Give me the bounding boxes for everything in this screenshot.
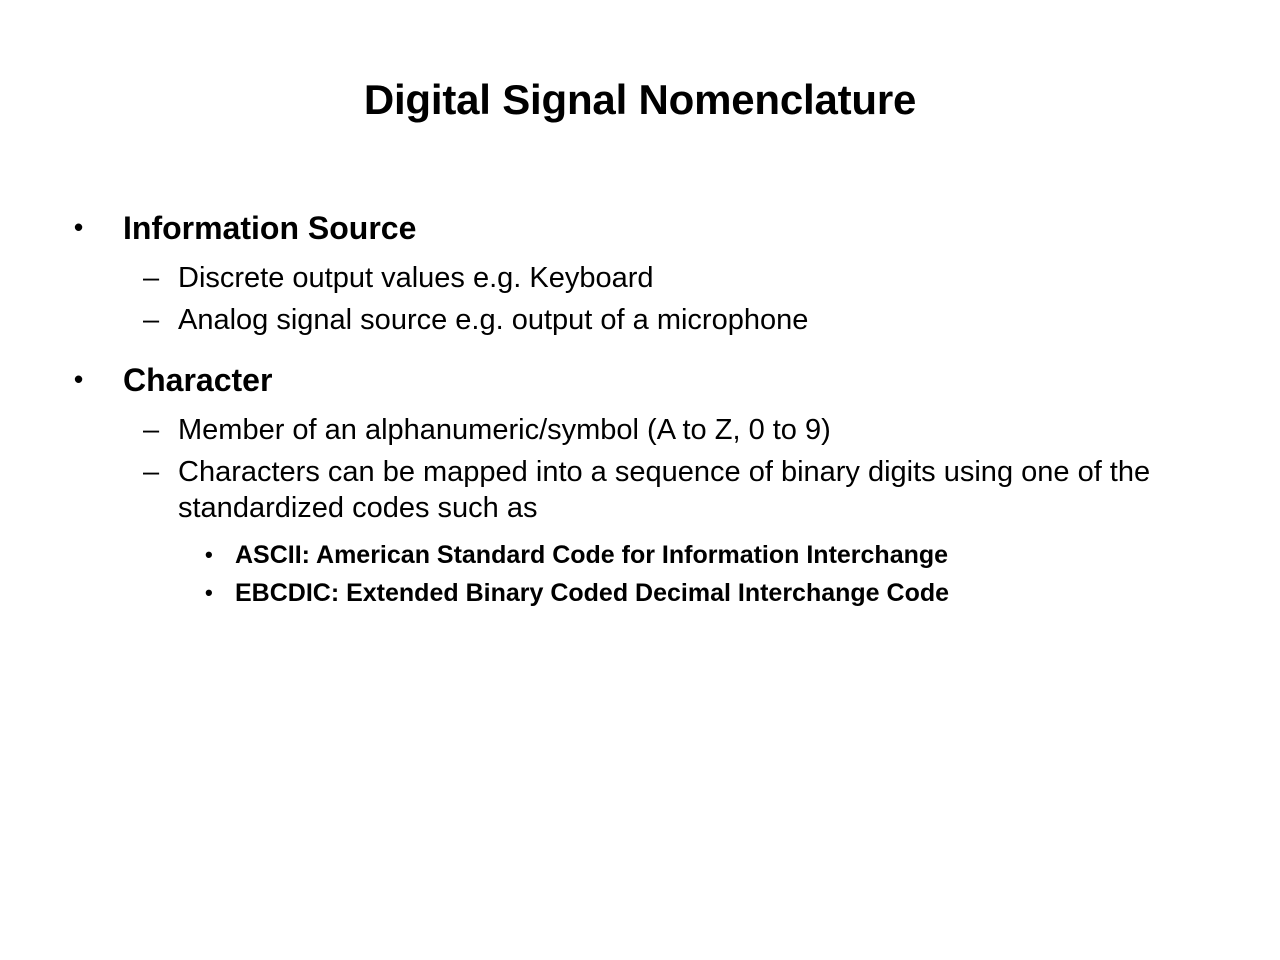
list-item-label: Character: [123, 361, 1163, 400]
list-item: • EBCDIC: Extended Binary Coded Decimal …: [0, 578, 1280, 610]
bullet-dot-icon: •: [74, 209, 123, 246]
list-item-label: EBCDIC: Extended Binary Coded Decimal In…: [235, 578, 1195, 610]
list-item-label: Information Source: [123, 209, 1163, 248]
bullet-dash-icon: –: [143, 412, 178, 448]
bullet-dot-icon: •: [205, 540, 235, 570]
page-title: Digital Signal Nomenclature: [64, 76, 1216, 123]
list-item: – Discrete output values e.g. Keyboard: [0, 260, 1280, 296]
slide-body: • Information Source – Discrete output v…: [0, 209, 1280, 615]
bullet-dash-icon: –: [143, 260, 178, 296]
list-item: – Analog signal source e.g. output of a …: [0, 302, 1280, 338]
list-item: – Member of an alphanumeric/symbol (A to…: [0, 412, 1280, 448]
list-item: • ASCII: American Standard Code for Info…: [0, 540, 1280, 572]
list-item-label: Analog signal source e.g. output of a mi…: [178, 302, 1188, 338]
bullet-dash-icon: –: [143, 302, 178, 338]
list-item: • Character: [0, 361, 1280, 400]
list-item-label: Discrete output values e.g. Keyboard: [178, 260, 1188, 296]
bullet-dot-icon: •: [74, 361, 123, 398]
slide: Digital Signal Nomenclature • Informatio…: [0, 0, 1280, 960]
list-item: • Information Source: [0, 209, 1280, 248]
bullet-dot-icon: •: [205, 578, 235, 608]
bullet-dash-icon: –: [143, 454, 178, 490]
list-item-label: Member of an alphanumeric/symbol (A to Z…: [178, 412, 1188, 448]
list-item-label: ASCII: American Standard Code for Inform…: [235, 540, 1195, 572]
list-item: – Characters can be mapped into a sequen…: [0, 454, 1280, 527]
list-item-label: Characters can be mapped into a sequence…: [178, 454, 1188, 527]
